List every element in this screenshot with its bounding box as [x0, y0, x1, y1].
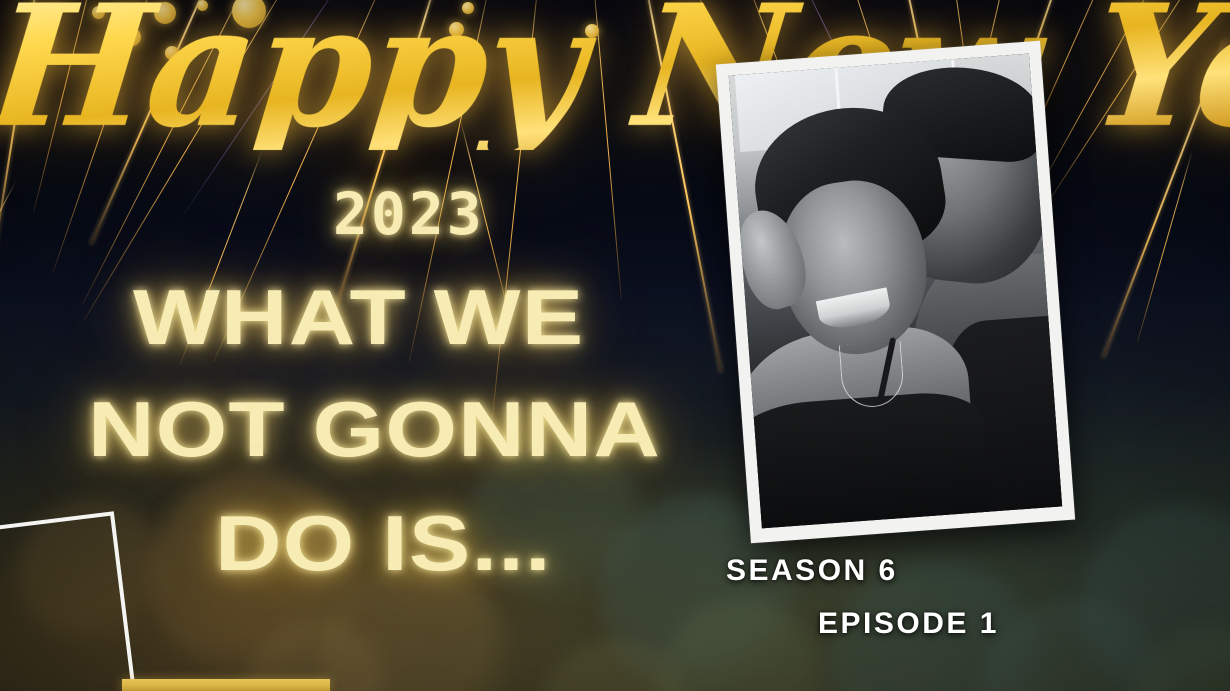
title-line-1: WHAT WE — [133, 272, 584, 363]
photo-grain-overlay — [729, 54, 1062, 529]
episode-label: EPISODE 1 — [818, 607, 999, 641]
money-bouquet-artwork — [0, 579, 8, 691]
year-label: 2023 — [333, 180, 485, 248]
title-line-2: NOT GONNA — [88, 384, 661, 475]
title-line-3: DO IS... — [215, 498, 552, 589]
season-label: SEASON 6 — [726, 554, 898, 588]
couple-portrait-image — [729, 54, 1062, 529]
thumbnail-canvas: Happy New Year 2023 WHAT WE NOT GONNA DO… — [0, 0, 1230, 691]
couple-portrait-photo — [716, 41, 1075, 544]
bottom-gold-bar — [122, 679, 330, 691]
